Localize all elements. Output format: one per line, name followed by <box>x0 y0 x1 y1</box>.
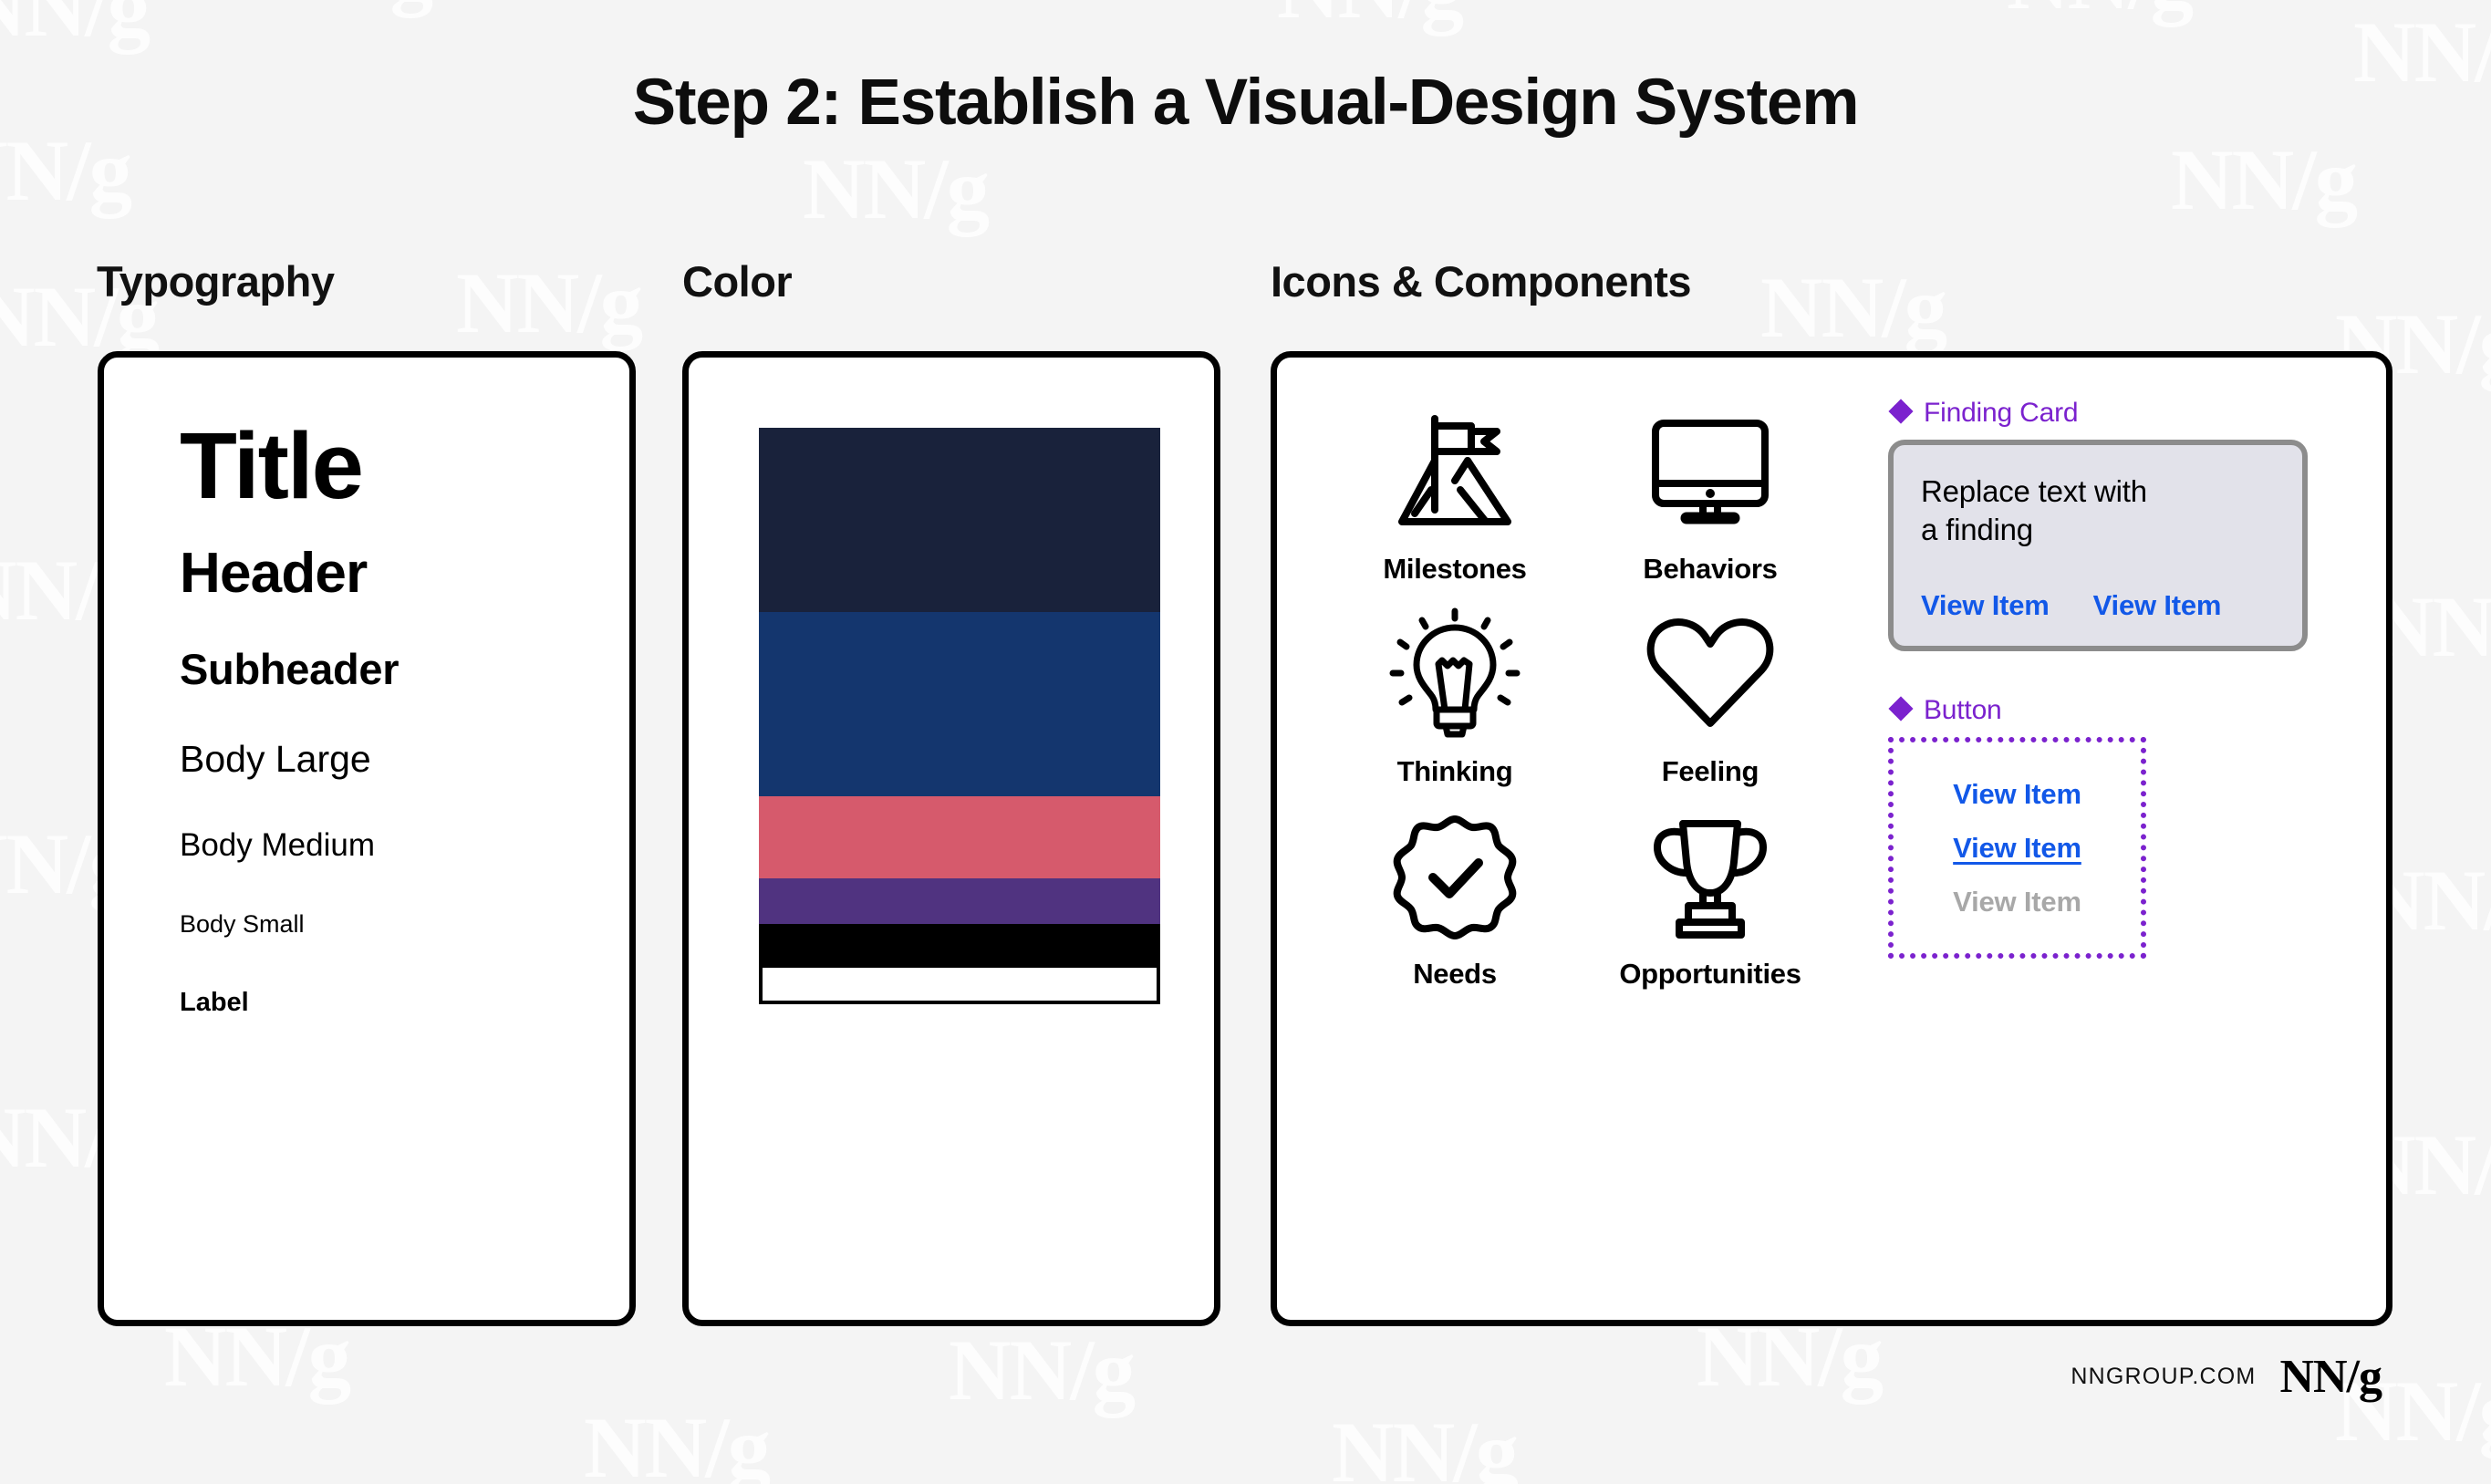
button-spec: Button View Item View Item View Item <box>1888 695 2362 959</box>
icon-cell-feeling: Feeling <box>1583 606 1838 788</box>
button-tag-label: Button <box>1924 695 2002 726</box>
watermark-text: NN/g <box>949 1327 1134 1414</box>
type-sample-label: Label <box>180 987 602 1019</box>
monitor-icon <box>1643 403 1778 540</box>
type-sample-subheader: Subheader <box>180 644 602 695</box>
watermark-text: NN/g <box>1332 1409 1517 1484</box>
diamond-icon <box>1888 399 1914 429</box>
icons-components-panel: Milestones Behaviors <box>1271 351 2392 1326</box>
watermark-text: NN/g <box>1697 1313 1882 1400</box>
view-item-link[interactable]: View Item <box>2093 589 2222 622</box>
section-heading-icons-components: Icons & Components <box>1271 256 1691 306</box>
finding-card[interactable]: Replace text with a finding View Item Vi… <box>1888 440 2308 651</box>
badge-check-icon <box>1387 808 1522 945</box>
watermark-text: NN/g <box>1760 265 1946 351</box>
watermark-text: NN/g <box>0 0 149 50</box>
trophy-icon <box>1643 808 1778 945</box>
slide-canvas: NN/g NN/g NN/g NN/g NN/g NN/g NN/g NN/g … <box>0 0 2491 1484</box>
color-swatch-purple <box>759 878 1160 924</box>
typography-panel: Title Header Subheader Body Large Body M… <box>98 351 636 1326</box>
page-title: Step 2: Establish a Visual-Design System <box>0 66 2491 140</box>
color-swatch-white <box>759 968 1160 1004</box>
footer-url: NNGROUP.COM <box>2071 1364 2256 1390</box>
button-state-default[interactable]: View Item <box>1953 778 2081 811</box>
watermark-text: NN/g <box>164 1313 349 1400</box>
nng-logo: NN/g <box>2279 1350 2382 1404</box>
button-states-box: View Item View Item View Item <box>1888 737 2146 959</box>
color-swatch-blue <box>759 612 1160 796</box>
type-sample-body-small: Body Small <box>180 909 602 939</box>
watermark-text: NN/g <box>584 1405 769 1484</box>
watermark-text: NN/g <box>456 260 641 347</box>
color-panel <box>682 351 1220 1326</box>
diamond-icon <box>1888 696 1914 726</box>
icon-label: Behaviors <box>1643 553 1777 586</box>
watermark-text: NN/g <box>246 0 431 14</box>
icon-cell-milestones: Milestones <box>1327 403 1583 586</box>
section-heading-typography: Typography <box>97 256 334 306</box>
color-swatch-navy-dark <box>759 428 1160 612</box>
components-column: Finding Card Replace text with a finding… <box>1888 398 2362 959</box>
heart-icon <box>1643 606 1778 742</box>
button-state-hover[interactable]: View Item <box>1953 832 2081 865</box>
icon-cell-needs: Needs <box>1327 808 1583 991</box>
type-sample-body-large: Body Large <box>180 737 602 782</box>
footer: NNGROUP.COM NN/g <box>2071 1350 2382 1404</box>
section-heading-color: Color <box>682 256 792 306</box>
button-state-disabled: View Item <box>1953 886 2081 918</box>
finding-card-links: View Item View Item <box>1921 589 2275 622</box>
mountain-flag-icon <box>1387 403 1522 540</box>
color-swatch-black <box>759 924 1160 968</box>
watermark-text: NN/g <box>2171 137 2356 223</box>
watermark-text: NN/g <box>803 146 988 233</box>
view-item-link[interactable]: View Item <box>1921 589 2050 622</box>
finding-card-tag: Finding Card <box>1888 398 2362 429</box>
type-sample-title: Title <box>180 410 602 522</box>
watermark-text: NN/g <box>2007 0 2192 23</box>
icon-label: Milestones <box>1383 553 1526 586</box>
color-swatch-stack <box>759 428 1160 1004</box>
type-sample-body-medium: Body Medium <box>180 826 602 865</box>
type-sample-header: Header <box>180 540 602 607</box>
icon-cell-behaviors: Behaviors <box>1583 403 1838 586</box>
icon-grid: Milestones Behaviors <box>1327 403 1838 991</box>
color-swatch-pink-red <box>759 796 1160 878</box>
finding-card-tag-label: Finding Card <box>1924 398 2078 429</box>
lightbulb-icon <box>1387 606 1522 742</box>
watermark-text: NN/g <box>1277 0 1462 32</box>
icon-label: Thinking <box>1397 755 1513 788</box>
icon-label: Needs <box>1413 958 1497 991</box>
button-tag: Button <box>1888 695 2362 726</box>
typography-sample-list: Title Header Subheader Body Large Body M… <box>180 410 602 1019</box>
finding-card-body-text: Replace text with a finding <box>1921 472 2275 549</box>
icon-label: Feeling <box>1662 755 1759 788</box>
icon-cell-thinking: Thinking <box>1327 606 1583 788</box>
icon-label: Opportunities <box>1619 958 1801 991</box>
watermark-text: NN/g <box>0 128 130 214</box>
icon-cell-opportunities: Opportunities <box>1583 808 1838 991</box>
